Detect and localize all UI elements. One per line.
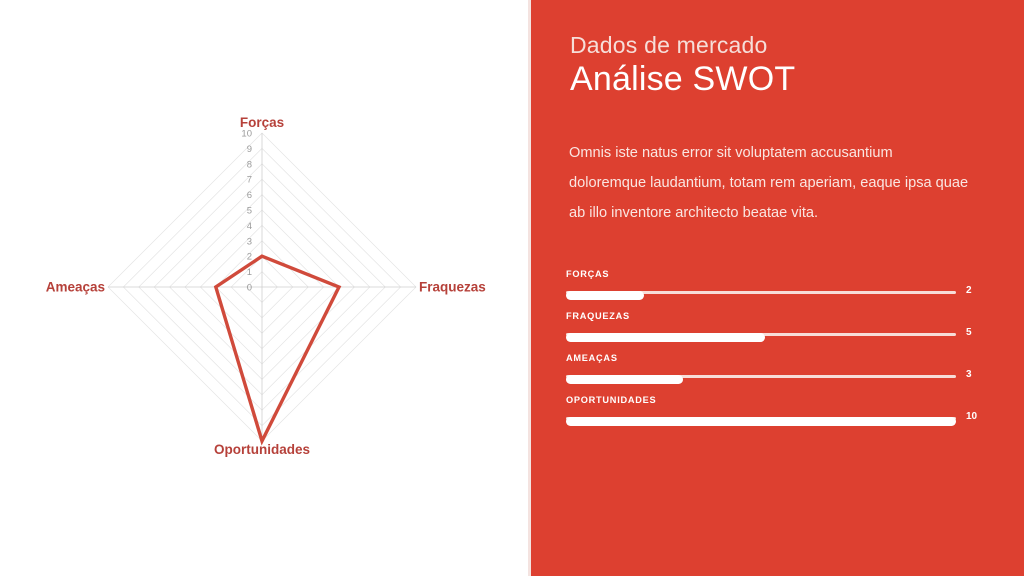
- tick-label-5: 5: [247, 206, 252, 217]
- metric-bar: 5: [566, 328, 994, 340]
- radar-chart-svg: 10 9 8 7 6 5 4 3 2 1 0 Forças Fraquezas …: [0, 0, 528, 576]
- metric-value: 5: [966, 327, 972, 338]
- axis-title-ameacas: Ameaças: [46, 280, 105, 295]
- tick-label-6: 6: [247, 190, 252, 201]
- metric-row-ameacas: AMEAÇAS 3: [566, 352, 994, 394]
- radar-axes: [108, 133, 416, 441]
- info-pane: Dados de mercado Análise SWOT Omnis iste…: [528, 0, 1024, 576]
- metric-value: 3: [966, 369, 972, 380]
- metric-value: 2: [966, 285, 972, 296]
- axis-title-oportunidades: Oportunidades: [214, 442, 310, 457]
- metric-label: FRAQUEZAS: [566, 310, 994, 322]
- bar-fill: [566, 333, 765, 342]
- bar-fill: [566, 375, 683, 384]
- tick-label-2: 2: [247, 252, 252, 263]
- radar-chart-pane: 10 9 8 7 6 5 4 3 2 1 0 Forças Fraquezas …: [0, 0, 528, 576]
- slide-root: 10 9 8 7 6 5 4 3 2 1 0 Forças Fraquezas …: [0, 0, 1024, 576]
- page-title: Análise SWOT: [570, 60, 795, 99]
- bar-track: [566, 417, 956, 420]
- eyebrow-text: Dados de mercado: [570, 32, 768, 59]
- metric-row-oportunidades: OPORTUNIDADES 10: [566, 394, 994, 436]
- tick-label-0: 0: [247, 283, 252, 294]
- axis-title-fraquezas: Fraquezas: [419, 280, 486, 295]
- metric-row-fraquezas: FRAQUEZAS 5: [566, 310, 994, 352]
- axis-title-forcas: Forças: [240, 115, 284, 130]
- metric-bar: 3: [566, 370, 994, 382]
- pane-left-edge: [528, 0, 531, 576]
- body-paragraph: Omnis iste natus error sit voluptatem ac…: [569, 138, 969, 228]
- tick-label-3: 3: [247, 236, 252, 247]
- tick-label-8: 8: [247, 159, 252, 170]
- tick-label-7: 7: [247, 175, 252, 186]
- bar-fill: [566, 417, 956, 426]
- bar-fill: [566, 291, 644, 300]
- bar-track: [566, 375, 956, 378]
- tick-label-4: 4: [247, 221, 252, 232]
- metric-row-forcas: FORÇAS 2: [566, 268, 994, 310]
- metric-bar: 2: [566, 286, 994, 298]
- tick-label-9: 9: [247, 144, 252, 155]
- metric-bar: 10: [566, 412, 994, 424]
- metric-label: FORÇAS: [566, 268, 994, 280]
- bar-track: [566, 333, 956, 336]
- tick-label-10: 10: [241, 129, 252, 140]
- metric-label: OPORTUNIDADES: [566, 394, 994, 406]
- metric-label: AMEAÇAS: [566, 352, 994, 364]
- metrics-list: FORÇAS 2 FRAQUEZAS 5 AMEAÇAS: [566, 268, 994, 436]
- tick-label-1: 1: [247, 267, 252, 278]
- bar-track: [566, 291, 956, 294]
- metric-value: 10: [966, 411, 977, 422]
